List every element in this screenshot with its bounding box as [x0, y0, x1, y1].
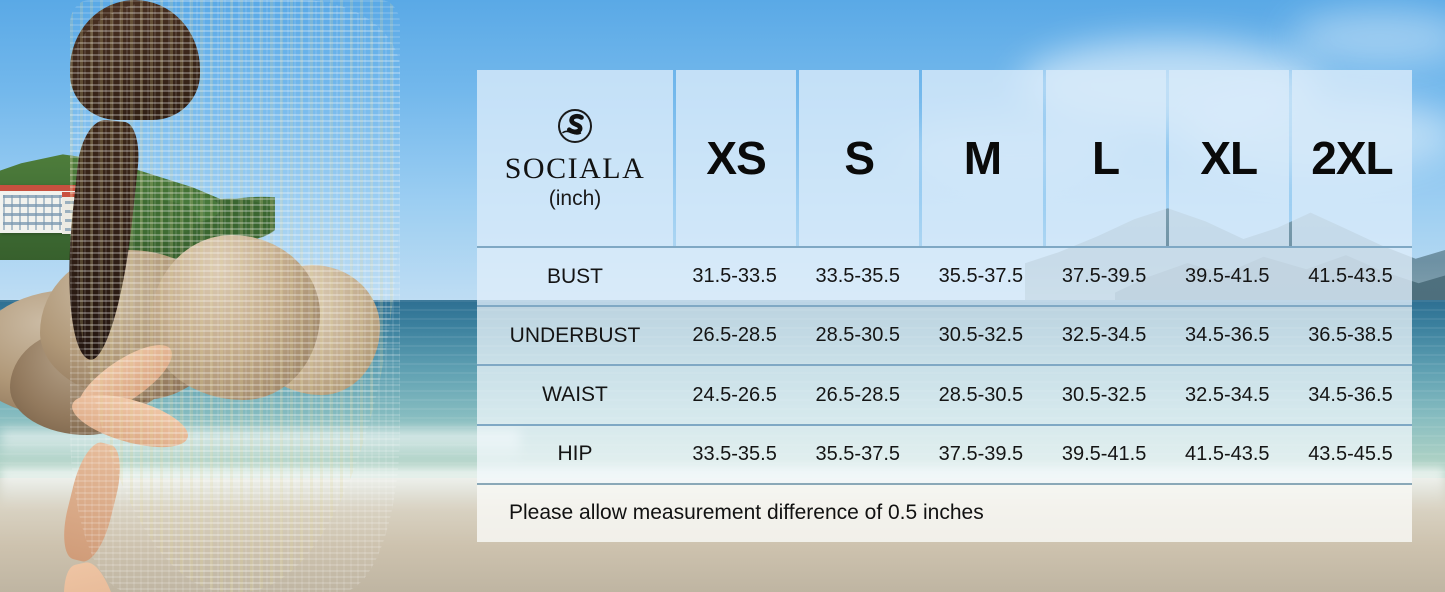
cell-hip-2xl: 43.5-45.5 [1289, 443, 1412, 466]
measurement-unit: (inch) [549, 187, 602, 211]
cell-underbust-m: 30.5-32.5 [919, 324, 1042, 347]
size-label: L [1092, 131, 1119, 185]
cell-waist-l: 30.5-32.5 [1043, 384, 1166, 407]
cell-bust-l: 37.5-39.5 [1043, 265, 1166, 288]
size-label: S [844, 131, 874, 185]
cell-bust-xl: 39.5-41.5 [1166, 265, 1289, 288]
size-header-l: L [1046, 70, 1166, 246]
cell-underbust-xl: 34.5-36.5 [1166, 324, 1289, 347]
brand-cell: SOCIALA (inch) [477, 70, 673, 246]
size-header-xs: XS [676, 70, 796, 246]
row-label-bust: BUST [477, 265, 673, 289]
row-label-hip: HIP [477, 442, 673, 466]
size-chart-header-row: SOCIALA (inch) XS S M L XL 2XL [477, 70, 1412, 246]
cell-hip-s: 35.5-37.5 [796, 443, 919, 466]
cell-bust-2xl: 41.5-43.5 [1289, 265, 1412, 288]
cell-hip-xl: 41.5-43.5 [1166, 443, 1289, 466]
size-header-m: M [922, 70, 1042, 246]
size-header-2xl: 2XL [1292, 70, 1412, 246]
cell-underbust-l: 32.5-34.5 [1043, 324, 1166, 347]
table-row: WAIST 24.5-26.5 26.5-28.5 28.5-30.5 30.5… [477, 364, 1412, 423]
cell-bust-xs: 31.5-33.5 [673, 265, 796, 288]
brand-name: SOCIALA [505, 153, 646, 185]
size-label: XS [706, 131, 765, 185]
cell-underbust-xs: 26.5-28.5 [673, 324, 796, 347]
measurement-note: Please allow measurement difference of 0… [477, 501, 984, 525]
size-header-s: S [799, 70, 919, 246]
row-label-waist: WAIST [477, 383, 673, 407]
table-row: UNDERBUST 26.5-28.5 28.5-30.5 30.5-32.5 … [477, 305, 1412, 364]
cell-waist-xl: 32.5-34.5 [1166, 384, 1289, 407]
cell-hip-l: 39.5-41.5 [1043, 443, 1166, 466]
cell-waist-2xl: 34.5-36.5 [1289, 384, 1412, 407]
size-header-xl: XL [1169, 70, 1289, 246]
cell-hip-m: 37.5-39.5 [919, 443, 1042, 466]
cell-hip-xs: 33.5-35.5 [673, 443, 796, 466]
row-label-underbust: UNDERBUST [477, 324, 673, 348]
cell-waist-xs: 24.5-26.5 [673, 384, 796, 407]
table-row: BUST 31.5-33.5 33.5-35.5 35.5-37.5 37.5-… [477, 246, 1412, 305]
cell-underbust-s: 28.5-30.5 [796, 324, 919, 347]
table-row: HIP 33.5-35.5 35.5-37.5 37.5-39.5 39.5-4… [477, 424, 1412, 483]
size-label: XL [1200, 131, 1257, 185]
model-figure [70, 0, 400, 592]
cell-waist-m: 28.5-30.5 [919, 384, 1042, 407]
measurement-note-row: Please allow measurement difference of 0… [477, 483, 1412, 542]
cell-waist-s: 26.5-28.5 [796, 384, 919, 407]
size-chart-table: SOCIALA (inch) XS S M L XL 2XL BUST 31.5… [477, 70, 1412, 542]
cell-bust-m: 35.5-37.5 [919, 265, 1042, 288]
size-label: M [964, 131, 1001, 185]
cell-bust-s: 33.5-35.5 [796, 265, 919, 288]
sociala-s-circle-logo-icon [552, 105, 598, 151]
size-label: 2XL [1311, 131, 1392, 185]
cell-underbust-2xl: 36.5-38.5 [1289, 324, 1412, 347]
size-chart-body: BUST 31.5-33.5 33.5-35.5 35.5-37.5 37.5-… [477, 246, 1412, 542]
